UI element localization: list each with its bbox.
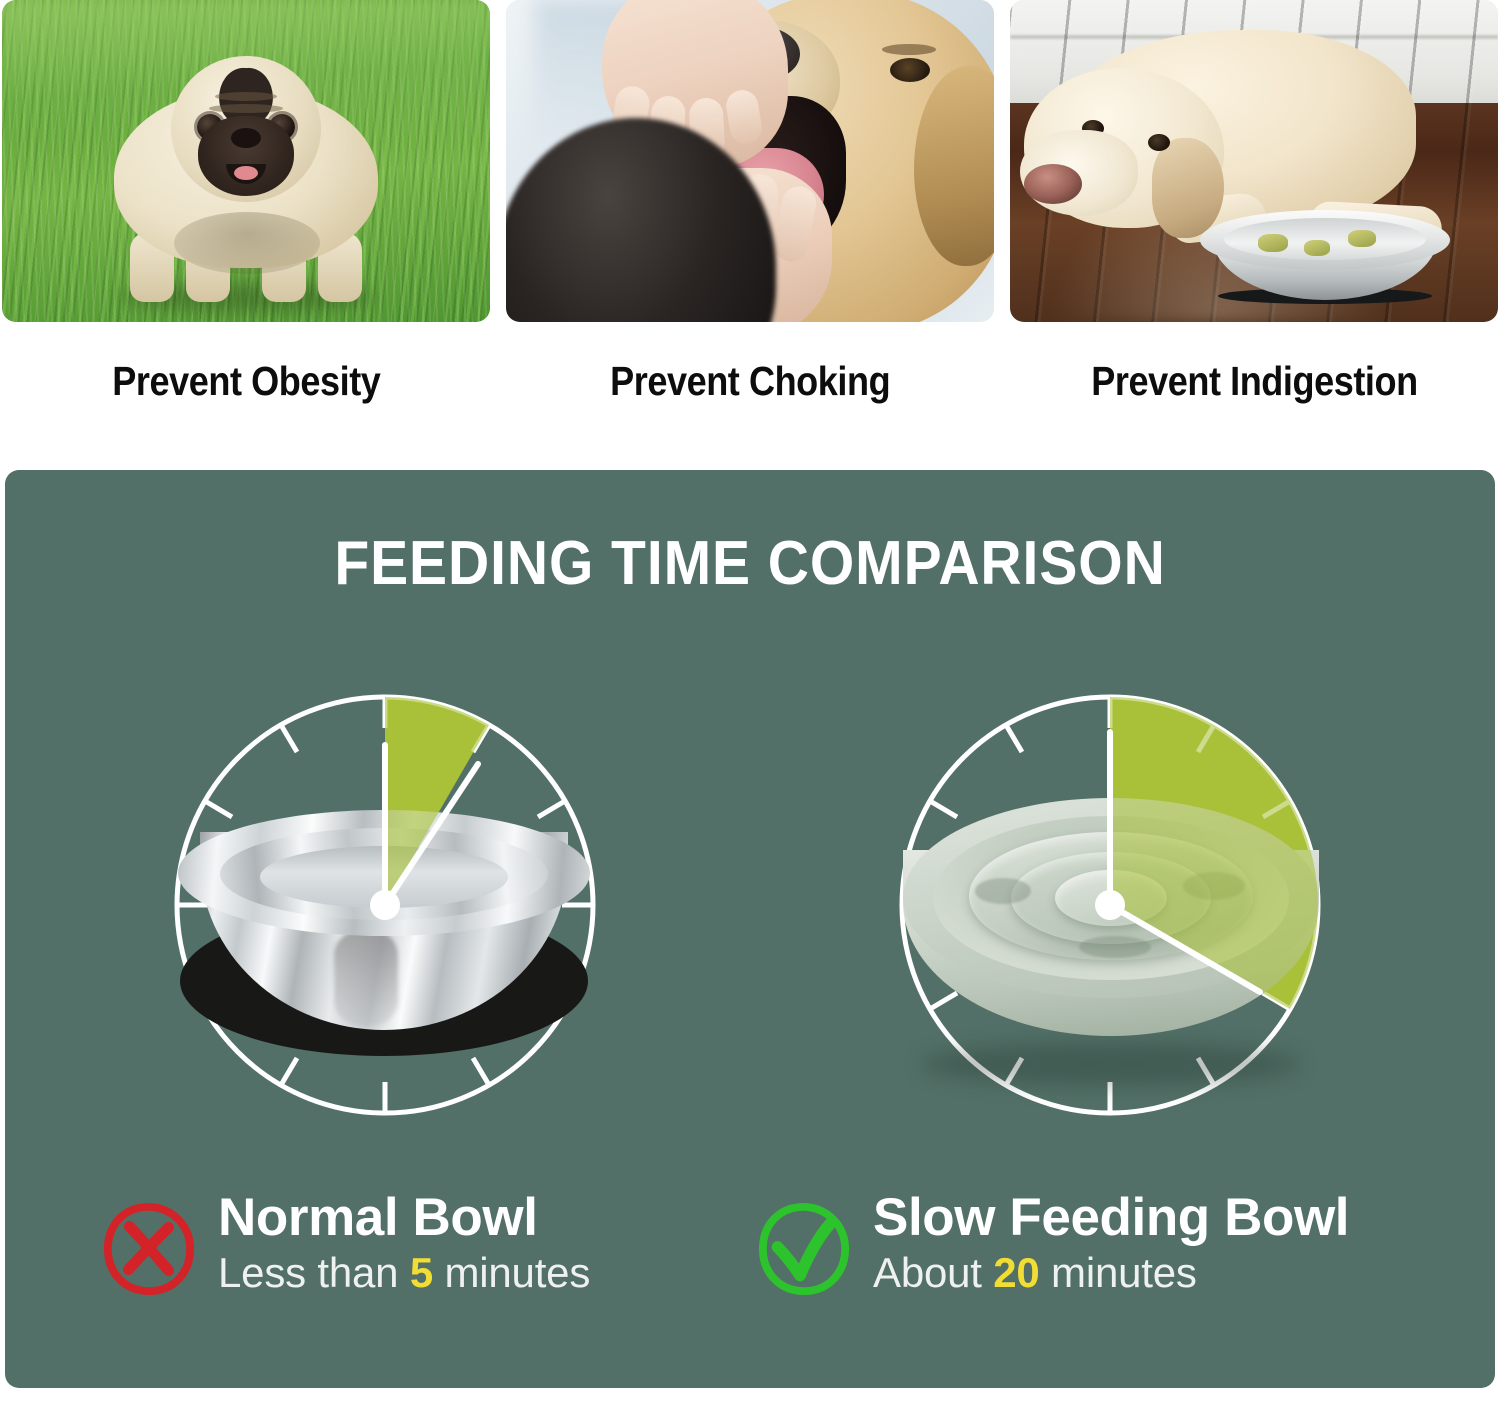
kibble	[1304, 240, 1330, 256]
labrador-eye	[1148, 134, 1170, 151]
photo-choking-check	[506, 0, 994, 322]
pug-wrinkle	[215, 92, 277, 101]
pug-figure	[96, 50, 396, 310]
infographic-page: Prevent Obesity	[0, 0, 1500, 1405]
sub-value-minutes: 20	[993, 1249, 1039, 1296]
pug-belly	[174, 212, 320, 274]
benefit-card-obesity: Prevent Obesity	[2, 0, 490, 465]
label-slow-feeding-bowl: Slow Feeding Bowl About 20 minutes	[755, 1190, 1349, 1298]
photo-obese-pug	[2, 0, 490, 322]
benefit-card-choking: Prevent Choking	[506, 0, 994, 465]
cross-circle-icon	[100, 1200, 198, 1298]
pug-tongue	[234, 166, 258, 180]
benefit-caption-obesity: Prevent Obesity	[112, 358, 380, 405]
retriever-ear	[914, 66, 994, 266]
pug-muzzle	[198, 116, 294, 196]
sub-prefix: Less than	[218, 1249, 410, 1296]
photo-lab-with-bowl	[1010, 0, 1498, 322]
label-normal-bowl: Normal Bowl Less than 5 minutes	[100, 1190, 590, 1298]
pug-head	[171, 56, 321, 202]
comparison-panel: FEEDING TIME COMPARISON	[5, 470, 1495, 1388]
labrador-snout	[1020, 130, 1138, 216]
labrador-head	[1024, 68, 1224, 228]
sub-value-minutes: 5	[410, 1249, 433, 1296]
kibble	[1348, 230, 1376, 247]
panel-title: FEEDING TIME COMPARISON	[65, 528, 1436, 599]
sub-prefix: About	[873, 1249, 993, 1296]
sub-suffix: minutes	[433, 1249, 590, 1296]
clock-wedge-overlay	[385, 697, 489, 905]
clock-overlay-left	[150, 670, 620, 1140]
benefit-caption-indigestion: Prevent Indigestion	[1091, 358, 1417, 405]
label-subtitle-normal-bowl: Less than 5 minutes	[218, 1249, 590, 1297]
check-circle-icon	[755, 1200, 853, 1298]
pug-wrinkle	[209, 104, 283, 113]
finger	[771, 183, 819, 264]
label-subtitle-slow-feeding-bowl: About 20 minutes	[873, 1249, 1349, 1297]
clock-normal-bowl	[150, 670, 620, 1140]
label-title-slow-feeding-bowl: Slow Feeding Bowl	[873, 1190, 1349, 1245]
label-text-block: Slow Feeding Bowl About 20 minutes	[873, 1190, 1349, 1297]
clock-overlay-right	[875, 670, 1345, 1140]
labrador-nose	[1024, 164, 1082, 204]
clock-slow-feeding-bowl	[875, 670, 1345, 1140]
retriever-brow	[882, 44, 936, 55]
clock-center-dot	[370, 890, 400, 920]
pug-mouth	[226, 164, 266, 184]
sub-suffix: minutes	[1040, 1249, 1197, 1296]
benefits-strip: Prevent Obesity	[0, 0, 1500, 465]
finger	[724, 88, 764, 146]
benefit-card-indigestion: Prevent Indigestion	[1010, 0, 1498, 465]
label-text-block: Normal Bowl Less than 5 minutes	[218, 1190, 590, 1297]
label-title-normal-bowl: Normal Bowl	[218, 1190, 590, 1245]
steel-bowl-photo	[1200, 210, 1450, 306]
retriever-eye	[890, 58, 930, 82]
benefit-caption-choking: Prevent Choking	[610, 358, 890, 405]
pug-nose	[231, 128, 261, 148]
kibble	[1258, 234, 1288, 252]
clock-center-dot	[1095, 890, 1125, 920]
